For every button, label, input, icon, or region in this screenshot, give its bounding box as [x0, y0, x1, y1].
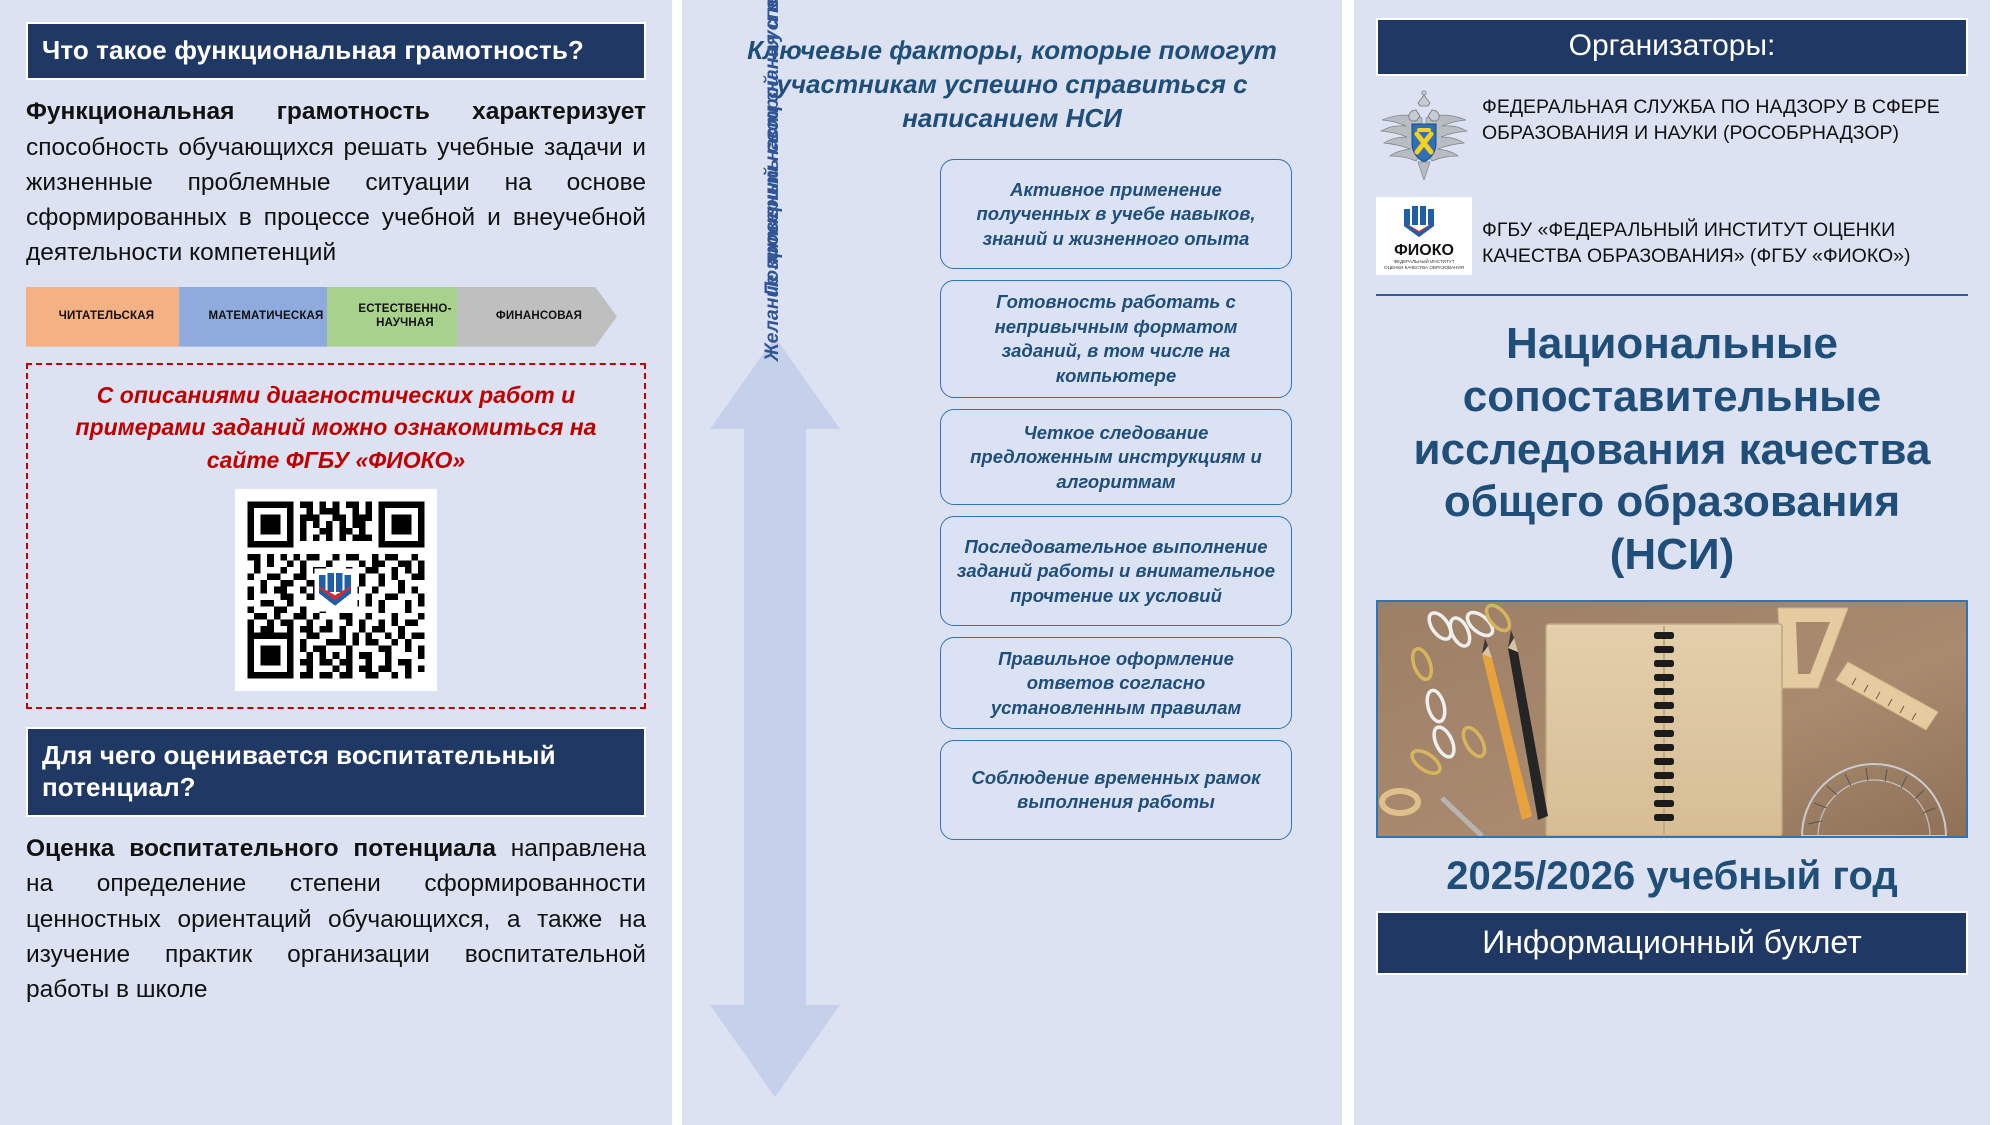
left-paragraph-1: Функциональная грамотность характеризует… [26, 94, 646, 270]
organizer-text-fioko: ФГБУ «ФЕДЕРАЛЬНЫЙ ИНСТИТУТ ОЦЕНКИ КАЧЕСТ… [1482, 197, 1968, 269]
left-paragraph-1-bold: Функциональная грамотность характеризует [26, 98, 646, 125]
booklet-label-wrapper: Информационный буклет [1376, 911, 1968, 975]
double-arrow-graphic: Желание проверить свои знания и возможно… [700, 337, 850, 1097]
stationery-notebook-photo-svg [1378, 602, 1966, 836]
qr-code-svg [241, 495, 431, 685]
left-paragraph-1-rest: способность обучающихся решать учебные з… [26, 134, 646, 267]
left-paragraph-2-bold: Оценка воспитательного потенциала [26, 835, 496, 862]
stationery-notebook-photo [1376, 600, 1968, 838]
left-spacer [26, 709, 646, 727]
key-factors-title: Ключевые факторы, которые помогут участн… [732, 34, 1292, 135]
factor-box-6: Соблюдение временных рамок выполнения ра… [940, 740, 1292, 840]
chevron-science-label: ЕСТЕСТВЕННО- НАУЧНАЯ [358, 303, 451, 329]
factor-box-3: Четкое следование предложенным инструкци… [940, 409, 1292, 505]
left-column: Что такое функциональная грамотность? Фу… [0, 0, 672, 1125]
booklet-label: Информационный буклет [1376, 911, 1968, 975]
fioko-logo-caption-2: ОЦЕНКИ КАЧЕСТВА ОБРАЗОВАНИЯ [1384, 265, 1464, 270]
organizer-row-rosobrnadzor: ФЕДЕРАЛЬНАЯ СЛУЖБА ПО НАДЗОРУ В СФЕРЕ ОБ… [1376, 90, 1968, 187]
factor-box-list: Активное применение полученных в учебе н… [940, 159, 1292, 851]
diagnostic-note-text: С описаниями диагностических работ и при… [44, 379, 628, 477]
academic-year: 2025/2026 учебный год [1376, 854, 1968, 899]
factor-box-4: Последовательное выполнение заданий рабо… [940, 516, 1292, 626]
qr-wrapper [44, 489, 628, 691]
rosobrnadzor-eagle-logo [1376, 90, 1472, 187]
chevron-math-label: МАТЕМАТИЧЕСКАЯ [208, 310, 323, 323]
chevron-reading: ЧИТАТЕЛЬСКАЯ [26, 287, 201, 347]
fioko-logo-wordmark: ФИОКО [1394, 242, 1454, 259]
arrow-text-line-2: Позитивный настрой на успех [760, 0, 785, 441]
poster-root: Что такое функциональная грамотность? Фу… [0, 0, 2000, 1125]
chevron-science: ЕСТЕСТВЕННО- НАУЧНАЯ [327, 287, 479, 347]
left-heading-2: Для чего оценивается воспитательный поте… [26, 727, 646, 817]
middle-column: Ключевые факторы, которые помогут участн… [682, 0, 1342, 1125]
chevron-finance-label: ФИНАНСОВАЯ [496, 310, 582, 323]
organizer-row-fioko: ФИОКО ФЕДЕРАЛЬНЫЙ ИНСТИТУТ ОЦЕНКИ КАЧЕСТ… [1376, 197, 1968, 280]
factor-box-1: Активное применение полученных в учебе н… [940, 159, 1292, 269]
fioko-logo-caption-1: ФЕДЕРАЛЬНЫЙ ИНСТИТУТ [1393, 257, 1454, 264]
chevron-finance: ФИНАНСОВАЯ [457, 287, 617, 347]
right-column: Организаторы: [1354, 0, 1990, 1125]
qr-code[interactable] [235, 489, 437, 691]
right-divider [1376, 294, 1968, 296]
chevron-reading-label: ЧИТАТЕЛЬСКАЯ [59, 310, 154, 323]
key-factors-flow: Желание проверить свои знания и возможно… [682, 159, 1342, 1119]
chevron-math: МАТЕМАТИЧЕСКАЯ [179, 287, 349, 347]
fioko-logo-svg: ФИОКО ФЕДЕРАЛЬНЫЙ ИНСТИТУТ ОЦЕНКИ КАЧЕСТ… [1376, 197, 1472, 275]
organizer-text-rosobrnadzor: ФЕДЕРАЛЬНАЯ СЛУЖБА ПО НАДЗОРУ В СФЕРЕ ОБ… [1482, 90, 1968, 146]
organizers-heading: Организаторы: [1376, 18, 1968, 76]
diagnostic-note-box: С описаниями диагностических работ и при… [26, 363, 646, 709]
left-heading-1: Что такое функциональная грамотность? [26, 22, 646, 80]
left-paragraph-2: Оценка воспитательного потенциала направ… [26, 831, 646, 1007]
factor-box-2: Готовность работать с непривычным формат… [940, 280, 1292, 398]
double-arrow-svg [700, 337, 850, 1097]
main-title: Национальные сопоставительные исследован… [1376, 318, 1968, 582]
rosobrnadzor-eagle-logo-svg [1376, 90, 1472, 182]
fioko-logo: ФИОКО ФЕДЕРАЛЬНЫЙ ИНСТИТУТ ОЦЕНКИ КАЧЕСТ… [1376, 197, 1472, 280]
factor-box-5: Правильное оформление ответов согласно у… [940, 637, 1292, 729]
competency-chevron-chart: ЧИТАТЕЛЬСКАЯ МАТЕМАТИЧЕСКАЯ ЕСТЕСТВЕННО-… [26, 287, 646, 347]
